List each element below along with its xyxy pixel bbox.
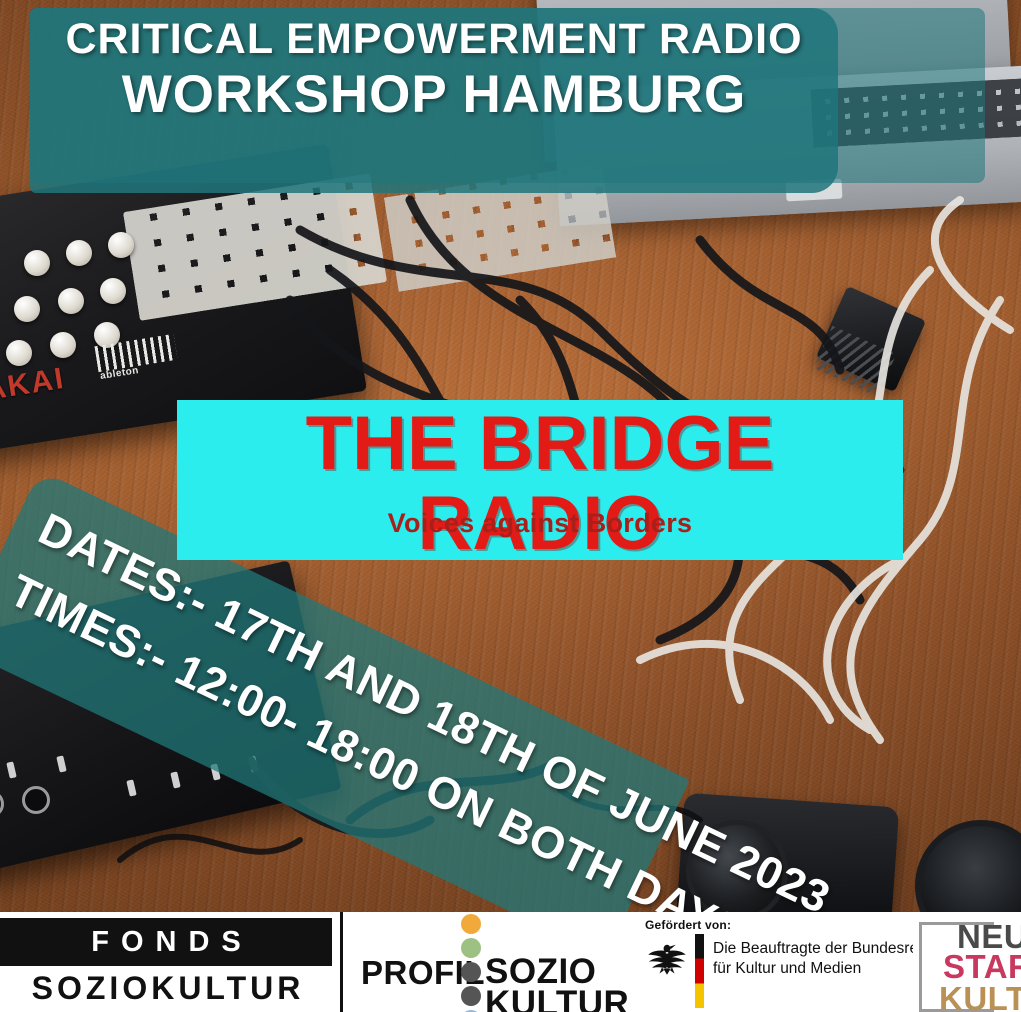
funded-by-label: Gefördert von: xyxy=(645,918,731,932)
german-flag-bar xyxy=(695,934,704,1008)
workshop-title-line1: CRITICAL EMPOWERMENT RADIO xyxy=(30,14,838,65)
neustart-kultur-word: KULTUR xyxy=(939,980,1021,1012)
logo-profil-soziokultur: PROFIL SOZIO KULTUR xyxy=(343,912,633,1012)
header-banner-text: CRITICAL EMPOWERMENT RADIO WORKSHOP HAMB… xyxy=(30,14,838,125)
profil-dot-gray-2 xyxy=(461,986,481,1006)
profil-dot-column xyxy=(461,914,481,1012)
sponsor-footer: FONDS SOZIOKULTUR PROFIL SOZIO KULTUR Ge… xyxy=(0,912,1021,1012)
workshop-title-line2: WORKSHOP HAMBURG xyxy=(30,65,838,125)
logo-bkm: Gefördert von: Die Beauftragte der Bunde… xyxy=(633,912,913,1012)
bundesadler-icon xyxy=(647,936,687,976)
station-tagline: Voices against Borders xyxy=(177,508,903,539)
profil-dot-gray-1 xyxy=(461,962,481,982)
profil-dot-green xyxy=(461,938,481,958)
profil-dot-orange xyxy=(461,914,481,934)
station-name: THE BRIDGE RADIO xyxy=(177,404,903,564)
bkm-line2: für Kultur und Medien xyxy=(713,960,861,978)
soziokultur-word: SOZIOKULTUR xyxy=(0,970,332,1007)
logo-fonds-soziokultur: FONDS SOZIOKULTUR xyxy=(0,912,343,1012)
logo-neustart-kultur: NEU START KULTUR xyxy=(913,912,1021,1012)
fonds-word: FONDS xyxy=(0,926,332,959)
profil-kultur-word: KULTUR xyxy=(485,984,629,1012)
poster-root: ableton AKAI xyxy=(0,0,1021,1012)
